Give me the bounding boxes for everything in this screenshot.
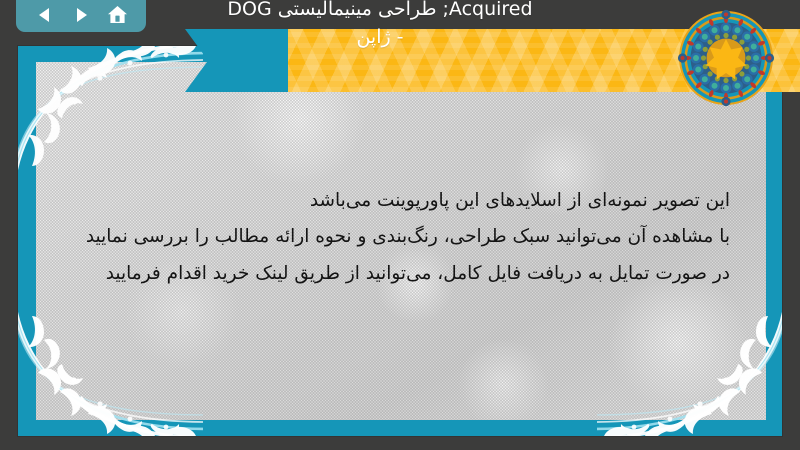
home-button[interactable] <box>106 3 128 27</box>
body-line-2: با مشاهده آن می‌توانید سبک طراحی، رنگ‌بن… <box>58 219 730 255</box>
home-icon <box>107 5 128 25</box>
navigation-bar <box>16 0 146 32</box>
back-button[interactable] <box>34 3 56 27</box>
forward-button[interactable] <box>70 3 92 27</box>
body-line-1: این تصویر نمونه‌ای از اسلایدهای این پاور… <box>58 183 730 219</box>
slide-body-text: این تصویر نمونه‌ای از اسلایدهای این پاور… <box>58 183 730 292</box>
triangle-right-icon <box>72 6 90 24</box>
slide-viewer: این تصویر نمونه‌ای از اسلایدهای این پاور… <box>0 0 800 450</box>
body-line-3: در صورت تمایل به دریافت فایل کامل، می‌تو… <box>58 256 730 292</box>
slide-frame: این تصویر نمونه‌ای از اسلایدهای این پاور… <box>18 46 782 436</box>
triangle-left-icon <box>36 6 54 24</box>
